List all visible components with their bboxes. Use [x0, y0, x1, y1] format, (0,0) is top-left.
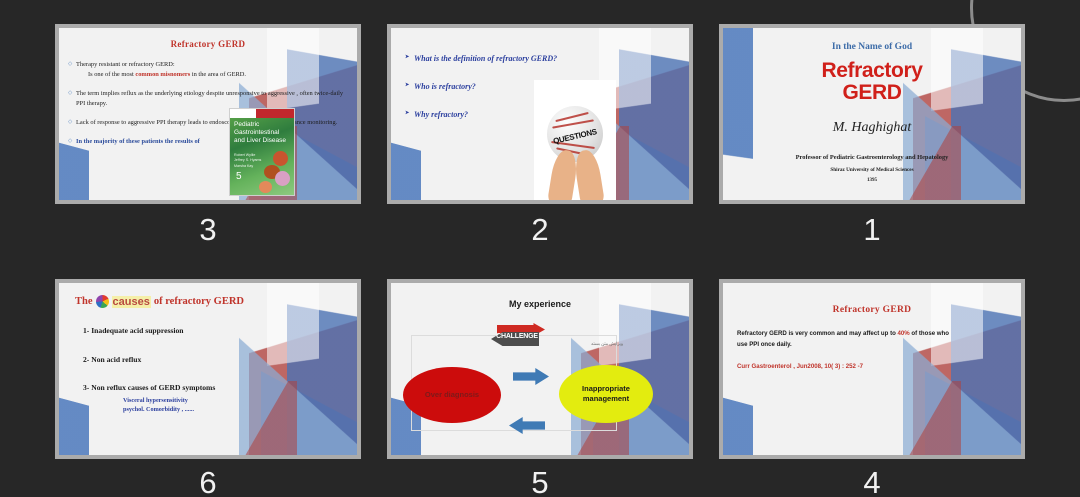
bullet-item: Lack of response to aggressive PPI thera…: [68, 118, 347, 128]
node-over-diagnosis: Over diagnosis: [403, 367, 501, 423]
cause-subitem-list: Visceral hypersensitivity psychol. Comor…: [123, 397, 297, 415]
slide-number-6: 6: [55, 467, 361, 497]
book-author: Jeffrey S. Hyams: [234, 158, 261, 162]
slide-title: Refractory GERD: [723, 305, 1021, 315]
slide-paragraph: Refractory GERD is very common and may a…: [737, 328, 955, 351]
book-author: Marsha Kay: [234, 164, 253, 168]
bullet-item: Therapy resistant or refractory GERD: Is…: [68, 60, 347, 80]
cause-list: 1- Inadequate acid suppression 2- Non ac…: [83, 327, 297, 436]
challenge-label: CHALLENGE: [495, 333, 539, 340]
bullet-item: The term implies reflux as the underlyin…: [68, 89, 347, 109]
book-edition: 5: [236, 171, 242, 182]
cause-item: 2- Non acid reflux: [83, 356, 297, 364]
slide-number-5: 5: [387, 467, 693, 497]
cause-item-label: 3- Non reflux causes of GERD symptoms: [83, 383, 215, 392]
slide-thumbnail-2[interactable]: What is the definition of refractory GER…: [387, 24, 693, 204]
book-title-line: and Liver Disease: [234, 137, 286, 144]
slide-number-3: 3: [55, 214, 361, 245]
challenge-banner: CHALLENGE: [489, 323, 549, 347]
citation-reference: Curr Gastroenterol , Jun2008, 10( 3) : 2…: [737, 363, 961, 370]
node-inappropriate-management: Inappropriate management: [559, 365, 653, 423]
slide-body: My experience CHALLENGE ويرايش متن بسته …: [391, 283, 689, 455]
title-word-tail: of refractory GERD: [154, 296, 244, 307]
slide-body: Refractory GERD Refractory GERD is very …: [723, 283, 1021, 455]
cause-subitem: psychol. Comorbidity , ......: [123, 406, 297, 415]
paragraph-pre: Refractory GERD is very common and may a…: [737, 330, 898, 337]
book-author: Robert Wyllie: [234, 153, 255, 157]
affiliation-line-2: Shiraz University of Medical Sciences: [723, 167, 1021, 173]
bullet-lead: Therapy resistant or refractory GERD:: [76, 61, 175, 68]
book-title: Pediatric Gastrointestinal and Liver Dis…: [234, 121, 290, 144]
slide-sorter-canvas: Refractory GERD Therapy resistant or ref…: [0, 0, 1080, 497]
globe-icon: [96, 295, 109, 308]
slide-number-1: 1: [719, 214, 1025, 245]
bullet-highlight: common misnomers: [135, 71, 190, 78]
invocation-text: In the Name of God: [723, 42, 1021, 52]
slide-body: Refractory GERD Therapy resistant or ref…: [59, 28, 357, 200]
affiliation-line-1: Professor of Pediatric Gastroenterology …: [723, 154, 1021, 161]
slide-canvas: In the Name of God Refractory GERD M. Ha…: [723, 28, 1021, 200]
title-line-1: Refractory: [821, 59, 922, 82]
slide-body: In the Name of God Refractory GERD M. Ha…: [723, 28, 1021, 200]
book-title-line: Gastrointestinal: [234, 129, 279, 136]
bullet-lead: Lack of response to aggressive PPI thera…: [76, 119, 337, 126]
paragraph-percent: 40%: [898, 330, 910, 337]
book-banner: [230, 109, 294, 118]
question-item: What is the definition of refractory GER…: [405, 54, 573, 65]
bullet-lead: The term implies reflux as the underlyin…: [76, 90, 343, 107]
cause-subitem: Visceral hypersensitivity: [123, 397, 297, 406]
slide-canvas: My experience CHALLENGE ويرايش متن بسته …: [391, 283, 689, 455]
slide-thumbnail-3[interactable]: Refractory GERD Therapy resistant or ref…: [55, 24, 361, 204]
title-word-causes: causes: [112, 296, 151, 308]
book-title-line: Pediatric: [234, 121, 259, 128]
author-name: M. Haghighat: [723, 120, 1021, 136]
bullet-lead: In the majority of these patients the re…: [76, 138, 200, 145]
slide-title: The causes of refractory GERD: [75, 295, 341, 308]
bullet-item: In the majority of these patients the re…: [68, 137, 347, 147]
slide-body: What is the definition of refractory GER…: [391, 28, 689, 200]
book-cover-image: Pediatric Gastrointestinal and Liver Dis…: [229, 108, 295, 196]
title-line-2: GERD: [723, 82, 1021, 103]
slide-canvas: The causes of refractory GERD 1- Inadequ…: [59, 283, 357, 455]
bullet-continuation: Is one of the most common misnomers in t…: [76, 70, 347, 80]
bullet-cont-pre: Is one of the most: [88, 71, 135, 78]
slide-thumbnail-4[interactable]: Refractory GERD Refractory GERD is very …: [719, 279, 1025, 459]
slide-canvas: What is the definition of refractory GER…: [391, 28, 689, 200]
slide-body: The causes of refractory GERD 1- Inadequ…: [59, 283, 357, 455]
slide-canvas: Refractory GERD Therapy resistant or ref…: [59, 28, 357, 200]
cause-item: 3- Non reflux causes of GERD symptoms Vi…: [83, 384, 297, 415]
presentation-year: 1395: [723, 178, 1021, 183]
slide-canvas: Refractory GERD Refractory GERD is very …: [723, 283, 1021, 455]
hands-graphic: [551, 150, 601, 200]
slide-number-4: 4: [719, 467, 1025, 497]
slide-thumbnail-1[interactable]: In the Name of God Refractory GERD M. Ha…: [719, 24, 1025, 204]
slide-number-2: 2: [387, 214, 693, 245]
bullet-list: Therapy resistant or refractory GERD: Is…: [68, 60, 347, 156]
cause-item: 1- Inadequate acid suppression: [83, 327, 297, 335]
slide-thumbnail-5[interactable]: My experience CHALLENGE ويرايش متن بسته …: [387, 279, 693, 459]
slide-title: My experience: [391, 299, 689, 309]
bullet-cont-post: in the area of GERD.: [190, 71, 246, 78]
book-authors: Robert Wyllie Jeffrey S. Hyams Marsha Ka…: [234, 153, 261, 169]
presentation-title: Refractory GERD: [723, 60, 1021, 103]
slide-title: Refractory GERD: [59, 39, 357, 49]
slide-thumbnail-6[interactable]: The causes of refractory GERD 1- Inadequ…: [55, 279, 361, 459]
farsi-note: ويرايش متن بسته: [591, 341, 623, 347]
questions-ball-image: QUESTIONS: [534, 80, 616, 200]
title-word-the: The: [75, 296, 93, 307]
